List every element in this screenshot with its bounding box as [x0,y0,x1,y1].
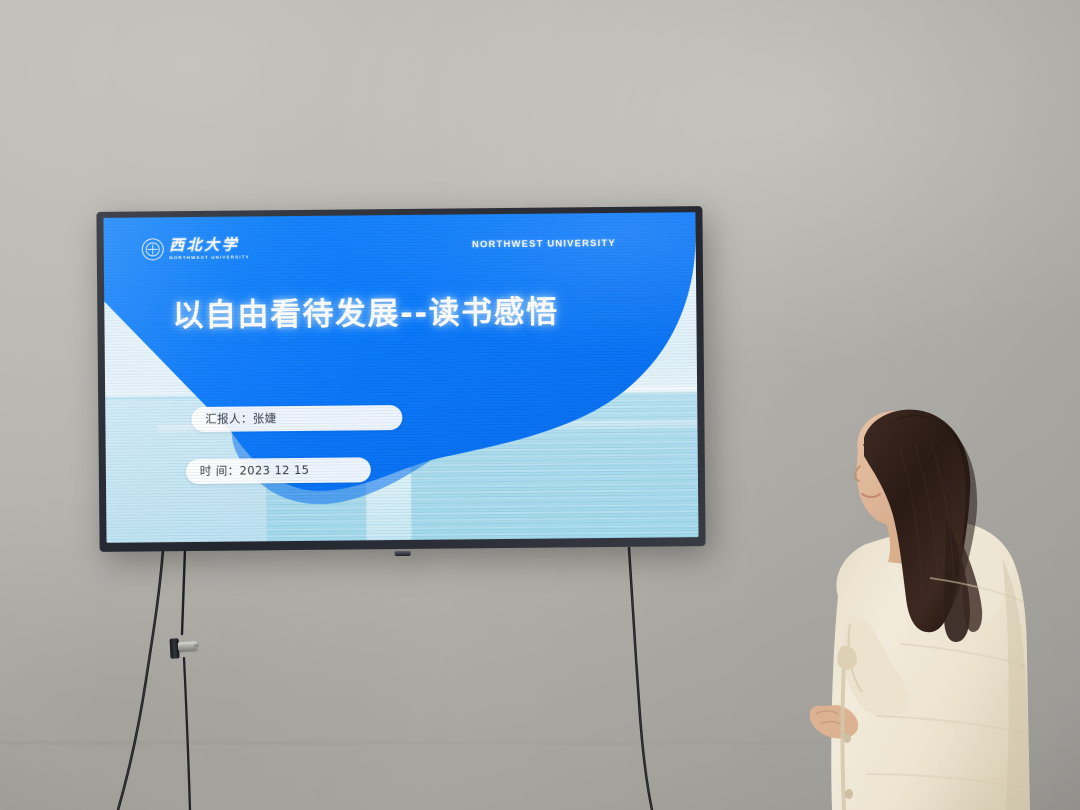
wall-cable-connector [169,635,197,658]
presenter-pill: 汇报人：张婕 [191,405,403,432]
tv-screen[interactable]: 西北大学 NORTHWEST UNIVERSITY NORTHWEST UNIV… [103,212,698,543]
date-pill: 时 间：2023 12 15 [186,457,371,483]
slide-blue-overlay-shape [103,212,698,543]
university-logo: 西北大学 NORTHWEST UNIVERSITY [142,238,250,261]
wall-mounted-tv[interactable]: 西北大学 NORTHWEST UNIVERSITY NORTHWEST UNIV… [96,206,705,552]
presentation-slide: 西北大学 NORTHWEST UNIVERSITY NORTHWEST UNIV… [103,212,698,543]
slide-title: 以自由看待发展--读书感悟 [172,287,559,336]
tv-ir-sensor-icon [395,551,411,556]
presenter-person [780,408,1080,810]
logo-name-cn: 西北大学 [169,238,250,254]
tv-bezel: 西北大学 NORTHWEST UNIVERSITY NORTHWEST UNIV… [96,206,705,552]
date-text: 时 间：2023 12 15 [200,462,310,479]
presenter-text: 汇报人：张婕 [205,411,277,428]
room-photo-scene: 西北大学 NORTHWEST UNIVERSITY NORTHWEST UNIV… [0,0,1080,810]
logo-name-en: NORTHWEST UNIVERSITY [169,255,249,260]
seal-inner-ring [146,242,160,256]
slide-header-university: NORTHWEST UNIVERSITY [472,238,616,250]
connector-tip [194,644,199,647]
university-seal-icon [142,238,164,260]
logo-wordmark: 西北大学 NORTHWEST UNIVERSITY [169,238,250,261]
